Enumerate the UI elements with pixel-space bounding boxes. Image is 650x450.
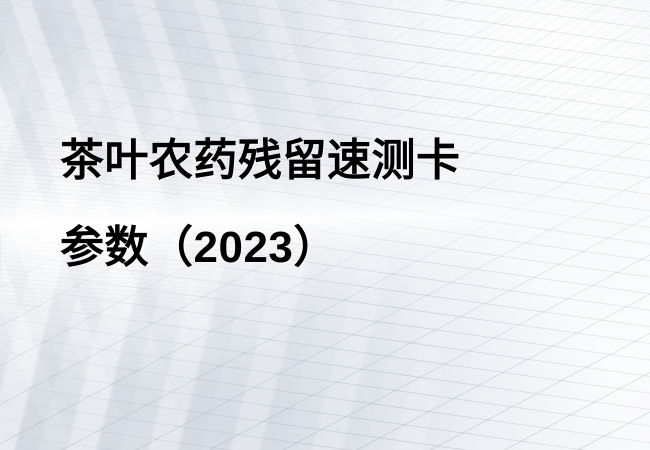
- title-line-primary: 茶叶农药残留速测卡: [60, 132, 461, 190]
- poster-canvas: 茶叶农药残留速测卡 参数（2023）: [0, 0, 650, 450]
- page-title: 茶叶农药残留速测卡 参数（2023）: [60, 132, 461, 277]
- title-line-secondary: 参数（2023）: [60, 219, 461, 277]
